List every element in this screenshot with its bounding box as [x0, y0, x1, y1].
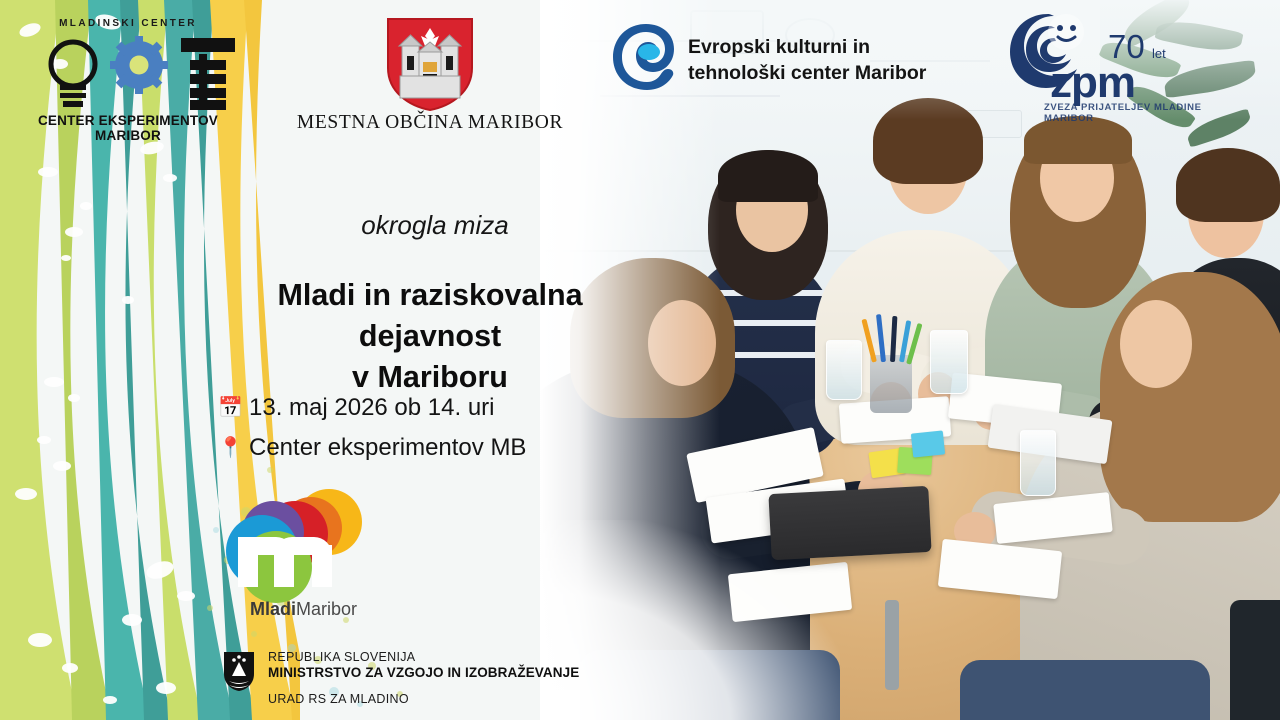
- mm-bold: Mladi: [250, 599, 296, 619]
- map-pin-icon: 📍: [218, 428, 240, 468]
- maribor-coat-of-arms: [385, 16, 475, 112]
- mladi-maribor-wordmark: MladiMaribor: [216, 599, 391, 620]
- mladi-maribor-m-mark: [238, 515, 348, 587]
- logo-mladi-maribor: MladiMaribor: [222, 487, 382, 622]
- event-location-row: 📍 Center eksperimentov MB: [218, 428, 648, 468]
- ektc-swirl-icon: [610, 20, 682, 94]
- mm-light: Maribor: [296, 599, 357, 619]
- logo-zpm: 70 let zpm ZVEZA PRIJATELJEV MLADINE MAR…: [1000, 10, 1250, 115]
- mestna-obcina-title: MESTNA OBČINA MARIBOR: [280, 112, 580, 134]
- ektc-line2: tehnološki center Maribor: [688, 60, 978, 86]
- calendar-icon: 📅: [218, 388, 240, 428]
- zpm-anniversary-unit: let: [1152, 46, 1166, 61]
- logo-ektc: Evropski kulturni in tehnološki center M…: [610, 18, 970, 104]
- zpm-wordmark: zpm: [1050, 58, 1135, 108]
- logo-ministry: REPUBLIKA SLOVENIJA MINISTRSTVO ZA VZGOJ…: [222, 648, 642, 712]
- lightbulb-icon: [46, 36, 100, 108]
- logo-mestna-obcina-maribor: MESTNA OBČINA MARIBOR: [280, 8, 580, 138]
- stacked-bars-icon: [181, 38, 235, 110]
- event-location-text: Center eksperimentov MB: [249, 428, 526, 468]
- gear-icon: [110, 36, 168, 94]
- event-title: Mladi in raziskovalna dejavnost v Maribo…: [205, 275, 655, 398]
- event-poster: MLADINSKI CENTER: [0, 0, 1280, 720]
- ministry-line3: URAD RS ZA MLADINO: [268, 692, 409, 706]
- event-date-text: 13. maj 2026 ob 14. uri: [249, 388, 495, 428]
- slovenia-coat-of-arms-icon: [222, 650, 256, 692]
- ektc-name: Evropski kulturni in tehnološki center M…: [688, 34, 978, 86]
- ministry-line1: REPUBLIKA SLOVENIJA: [268, 650, 415, 664]
- event-date-row: 📅 13. maj 2026 ob 14. uri: [218, 388, 648, 428]
- logo-center-eksperimentov-maribor: MLADINSKI CENTER: [18, 8, 238, 128]
- event-title-line1: Mladi in raziskovalna dejavnost: [205, 275, 655, 357]
- ministry-line2: MINISTRSTVO ZA VZGOJO IN IZOBRAŽEVANJE: [268, 665, 579, 680]
- event-details: 📅 13. maj 2026 ob 14. uri 📍 Center ekspe…: [218, 388, 648, 468]
- cem-supertitle: MLADINSKI CENTER: [18, 18, 238, 29]
- ektc-line1: Evropski kulturni in: [688, 34, 978, 60]
- cem-title: CENTER EKSPERIMENTOV MARIBOR: [18, 113, 238, 143]
- event-kicker: okrogla miza: [220, 210, 650, 241]
- zpm-subtitle: ZVEZA PRIJATELJEV MLADINE MARIBOR: [1044, 102, 1250, 124]
